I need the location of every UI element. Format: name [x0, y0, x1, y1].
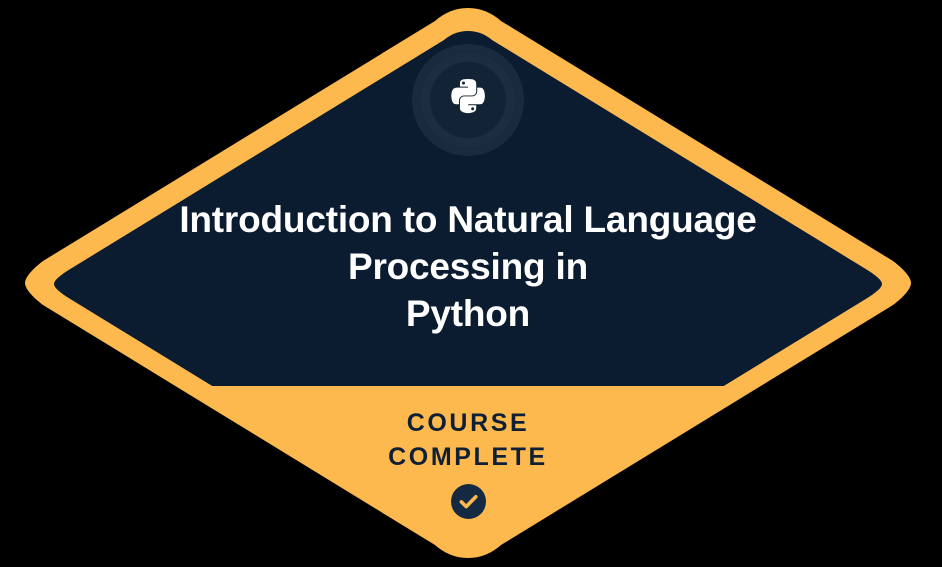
python-logo-icon	[396, 28, 540, 172]
completion-status: COURSE COMPLETE	[171, 406, 765, 519]
status-line-course: COURSE	[171, 406, 765, 440]
check-circle-icon	[451, 484, 486, 519]
course-title: Introduction to Natural Language Process…	[121, 196, 815, 337]
status-line-complete: COMPLETE	[171, 440, 765, 474]
course-completion-badge: Introduction to Natural Language Process…	[0, 0, 942, 567]
